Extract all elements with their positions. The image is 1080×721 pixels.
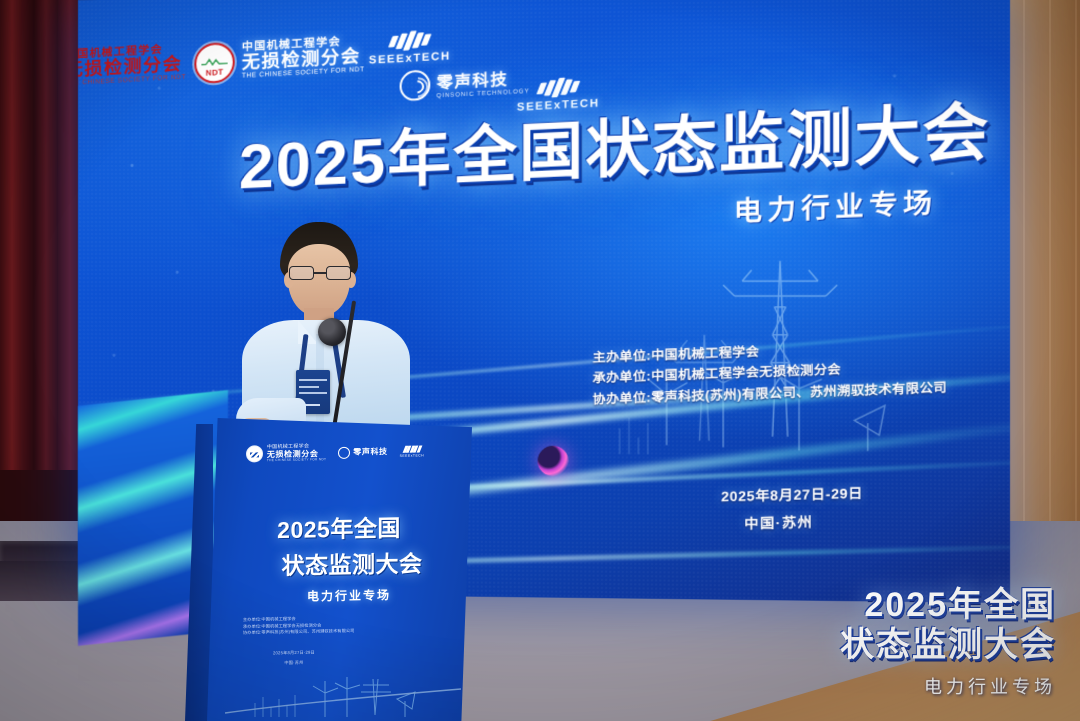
glow-orb-accent (537, 446, 568, 477)
seeex-tech-logo-second: SEEExTECH (517, 75, 600, 114)
speaker-face (288, 244, 350, 316)
event-date-block: 2025年8月27日-29日 中国·苏州 (721, 481, 863, 533)
ndt-seal-icon-light: NDT (194, 42, 234, 84)
podium-ndt-logo: 中国机械工程学会 无损检测分会 THE CHINESE SOCIETY FOR … (246, 444, 326, 463)
podium-front-panel: 中国机械工程学会 无损检测分会 THE CHINESE SOCIETY FOR … (207, 418, 472, 721)
seeex-tech-logo: SEEExTECH (369, 28, 451, 67)
microphone-head-icon (318, 318, 346, 346)
ndt-society-logo-dark: NDT 中国机械工程学会 无损检测分会 THE CHINESE SOCIETY … (78, 42, 186, 91)
podium-title-line1: 2025年全国 (233, 508, 445, 546)
podium-organizer-coorganize: 协办单位:零声科技(苏州)有限公司、苏州溯驭技术有限公司 (243, 628, 354, 636)
podium-ndt-line3: THE CHINESE SOCIETY FOR NDT (267, 458, 326, 463)
overlay-title-line2: 状态监测大会 (840, 626, 1056, 665)
podium-seeex-logo: SEEExTECH (400, 445, 424, 457)
eyeglasses-icon (288, 266, 352, 280)
seeex-mark-icon (369, 28, 451, 53)
overlay-title-line1: 2025年全国 (840, 586, 1056, 625)
podium-sub-title: 电力行业专场 (233, 585, 445, 606)
podium-ndt-seal-icon (246, 446, 263, 463)
qinsonic-sound-icon (400, 69, 431, 101)
podium-ndt-line1: 中国机械工程学会 (267, 444, 326, 451)
organizer-info-block: 主办单位:中国机械工程学会 承办单位:中国机械工程学会无损检测分会 协办单位:零… (593, 335, 947, 410)
waveform-icon-light (201, 53, 227, 64)
qinsonic-logo: 零声科技 QINSONIC TECHNOLOGY (400, 64, 530, 101)
overlay-title-block: 2025年全国 状态监测大会 电力行业专场 (840, 586, 1056, 699)
ndt-seal-label-light: NDT (196, 67, 232, 78)
podium-title-block: 2025年全国 状态监测大会 电力行业专场 (233, 508, 445, 606)
podium-organizer-block: 主办单位:中国机械工程学会 承办单位:中国机械工程学会无损检测分会 协办单位:零… (243, 615, 354, 636)
podium-qinsonic-icon (338, 447, 350, 459)
conference-stage-photo: NDT 中国机械工程学会 无损检测分会 THE CHINESE SOCIETY … (0, 0, 1080, 721)
podium-qinsonic-label: 零声科技 (353, 448, 387, 457)
podium-title-line2: 状态监测大会 (233, 544, 445, 582)
podium-qinsonic-logo: 零声科技 (338, 446, 387, 459)
seeex-mark-icon-second (517, 75, 600, 100)
overlay-sub-title: 电力行业专场 (840, 673, 1056, 699)
podium-power-graphic (225, 659, 461, 721)
ndt-society-logo-light: NDT 中国机械工程学会 无损检测分会 THE CHINESE SOCIETY … (194, 35, 364, 85)
podium-seeex-label: SEEExTECH (400, 453, 424, 457)
podium-event-date: 2025年8月27日-29日 (273, 650, 315, 657)
podium-seeex-mark-icon (400, 445, 424, 452)
seeex-tech-label: SEEExTECH (369, 50, 451, 67)
event-place: 中国·苏州 (744, 509, 863, 533)
event-date: 2025年8月27日-29日 (721, 481, 863, 505)
seeex-tech-label-second: SEEExTECH (517, 97, 600, 114)
podium-logo-row: 中国机械工程学会 无损检测分会 THE CHINESE SOCIETY FOR … (235, 442, 435, 463)
